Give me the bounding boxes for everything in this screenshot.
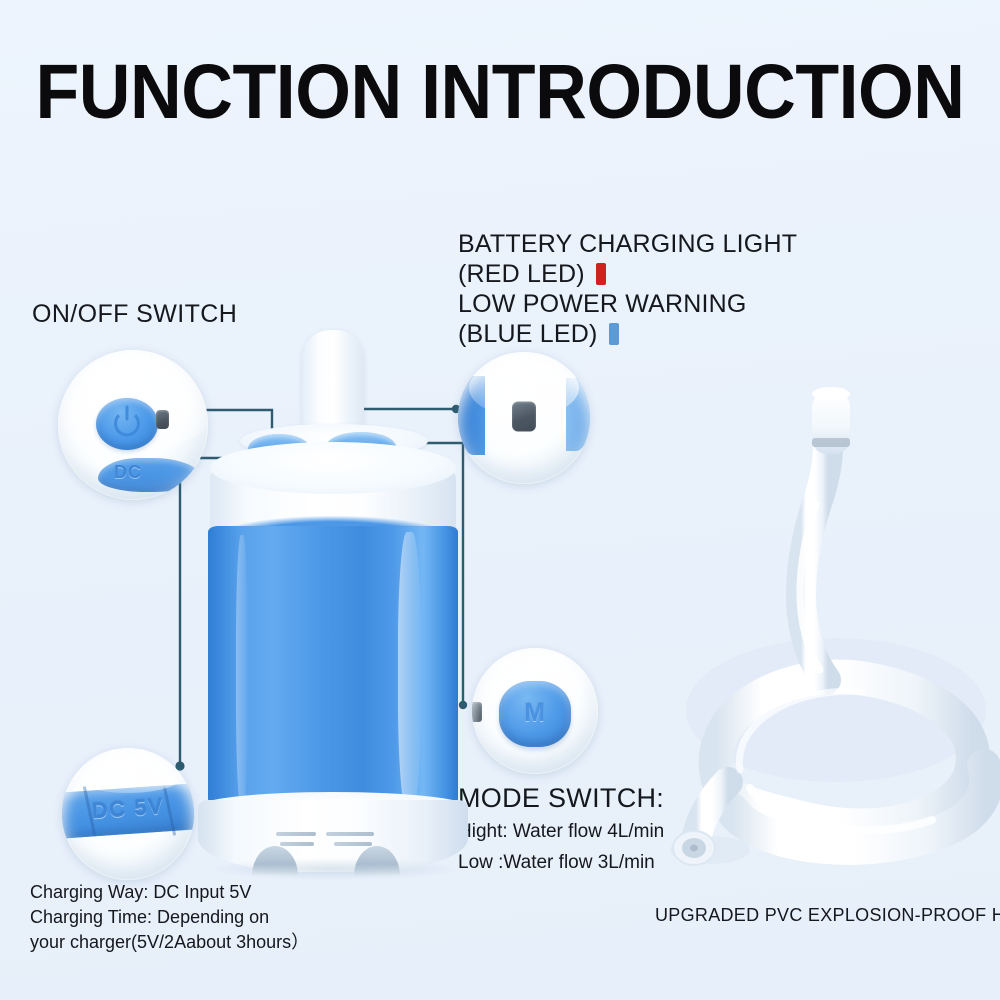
- charging-detail-line: your charger(5V/2Aabout 3hours）: [30, 930, 309, 955]
- callout-bubble-led: [458, 352, 590, 484]
- charging-way-line: Charging Way: DC Input 5V: [30, 880, 309, 905]
- mode-button-glyph: M: [524, 698, 546, 727]
- infographic-canvas: FUNCTION INTRODUCTION ON/OFF SWITCH: [0, 0, 1000, 1000]
- charging-time-line: Charging Time: Depending on: [30, 905, 309, 930]
- product-vent-slot: [334, 842, 372, 846]
- bubble-sheen: [70, 753, 186, 793]
- callout-bubble-dc-port: DC 5V: [62, 748, 194, 880]
- battery-light-line-4: (BLUE LED): [458, 319, 797, 349]
- callout-bubble-mode: M: [472, 648, 598, 774]
- battery-light-line-3: LOW POWER WARNING: [458, 289, 797, 319]
- label-hose: UPGRADED PVC EXPLOSION-PROOF HOSE: [655, 905, 1000, 926]
- low-power-text: LOW POWER WARNING: [458, 289, 747, 319]
- power-button-icon[interactable]: [96, 398, 158, 450]
- power-symbol-icon: [114, 410, 140, 436]
- product-cap-rim: [210, 442, 456, 494]
- battery-light-line-2: (RED LED): [458, 259, 797, 289]
- red-led-text: (RED LED): [458, 259, 585, 289]
- label-battery-light-block: BATTERY CHARGING LIGHT (RED LED) LOW POW…: [458, 229, 797, 349]
- body-highlight-left: [236, 535, 249, 809]
- battery-light-line-1: BATTERY CHARGING LIGHT: [458, 229, 797, 259]
- mode-switch-heading: MODE SWITCH:: [458, 783, 664, 814]
- label-mode-switch-block: MODE SWITCH: Hight: Water flow 4L/min Lo…: [458, 783, 664, 876]
- dc-band-text: DC: [114, 462, 142, 483]
- product-body: [208, 526, 458, 824]
- led-indicator-icon: [156, 410, 169, 429]
- product-vent-slot: [280, 842, 314, 846]
- product-image-shower-bucket: [186, 330, 476, 870]
- product-vent-slot: [276, 832, 316, 836]
- label-charging-block: Charging Way: DC Input 5V Charging Time:…: [30, 880, 309, 955]
- blue-led-swatch: [609, 323, 619, 345]
- mode-button-icon[interactable]: M: [499, 681, 571, 747]
- hose-connector: [812, 387, 850, 454]
- label-onoff-switch: ON/OFF SWITCH: [32, 300, 237, 329]
- product-vent-slot: [326, 832, 374, 836]
- red-led-swatch: [596, 263, 606, 285]
- product-shadow: [212, 858, 456, 880]
- product-image-pvc-hose: [640, 380, 1000, 880]
- body-highlight-right: [398, 532, 421, 812]
- mode-switch-high-line: Hight: Water flow 4L/min: [458, 818, 664, 845]
- led-indicator-icon: [512, 402, 536, 432]
- battery-light-text: BATTERY CHARGING LIGHT: [458, 229, 797, 259]
- blue-led-text: (BLUE LED): [458, 319, 598, 349]
- mode-switch-low-line: Low :Water flow 3L/min: [458, 849, 664, 876]
